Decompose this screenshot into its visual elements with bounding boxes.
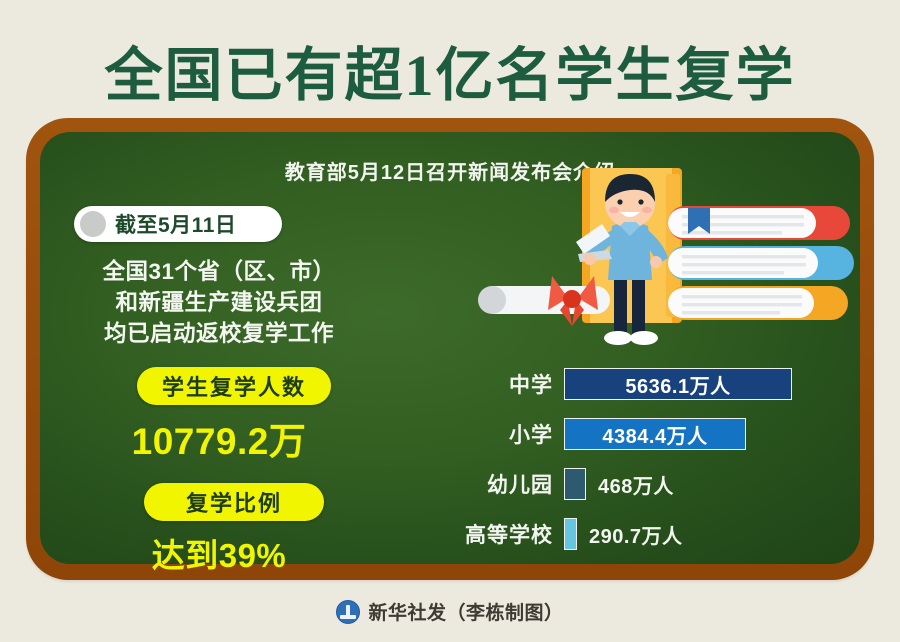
chart-label-primary-school: 小学 [440,419,564,449]
chart-value-primary-school: 4384.4万人 [602,420,707,449]
chart-row-kindergarten: 幼儿园 468万人 [440,464,860,504]
footer: 新华社发（李栋制图） [0,598,900,625]
chart-bar-higher-education [564,518,577,550]
paragraph-line-2: 和新疆生产建设兵团 [54,287,384,318]
stat-pill-ratio: 复学比例 [144,483,324,521]
paragraph-line-1: 全国31个省（区、市） [54,256,384,287]
date-badge: 截至5月11日 [74,206,282,242]
chart-value-kindergarten: 468万人 [598,470,674,499]
student-books-illustration [460,158,860,358]
chalkboard-frame: 教育部5月12日召开新闻发布会介绍 截至5月11日 全国31个省（区、市） 和新… [26,118,874,580]
chart-value-higher-education: 290.7万人 [589,520,683,549]
stat-value-students: 10779.2万 [54,411,384,465]
badge-dot-icon [80,211,106,237]
stat-pill-students: 学生复学人数 [137,367,331,405]
paragraph-line-3: 均已启动返校复学工作 [54,318,384,349]
chart-row-higher-education: 高等学校 290.7万人 [440,514,860,554]
infographic-page: 全国已有超1亿名学生复学 教育部5月12日召开新闻发布会介绍 截至5月11日 全… [0,0,900,642]
stat-pill-students-label: 学生复学人数 [162,370,306,402]
chart-label-kindergarten: 幼儿园 [440,469,564,499]
chart-bar-primary-school: 4384.4万人 [564,418,746,450]
page-title: 全国已有超1亿名学生复学 [0,28,900,112]
chart-row-primary-school: 小学 4384.4万人 [440,414,860,454]
chart-label-higher-education: 高等学校 [440,519,564,549]
footer-credit: 新华社发（李栋制图） [368,598,563,625]
illustration-svg [460,158,860,358]
left-column: 截至5月11日 全国31个省（区、市） 和新疆生产建设兵团 均已启动返校复学工作… [54,206,414,577]
description-paragraph: 全国31个省（区、市） 和新疆生产建设兵团 均已启动返校复学工作 [54,256,384,349]
chalkboard: 教育部5月12日召开新闻发布会介绍 截至5月11日 全国31个省（区、市） 和新… [40,132,860,564]
chart-row-middle-school: 中学 5636.1万人 [440,364,860,404]
chart-value-middle-school: 5636.1万人 [625,370,730,399]
chart-bar-kindergarten [564,468,586,500]
stat-pill-ratio-label: 复学比例 [186,486,282,518]
chart-label-middle-school: 中学 [440,369,564,399]
date-badge-label: 截至5月11日 [115,209,236,239]
chart-bar-middle-school: 5636.1万人 [564,368,792,400]
stat-value-ratio: 达到39% [54,529,384,577]
xinhua-logo-icon [336,600,360,624]
bar-chart: 中学 5636.1万人 小学 4384.4万人 幼儿园 468万人 [440,364,860,564]
